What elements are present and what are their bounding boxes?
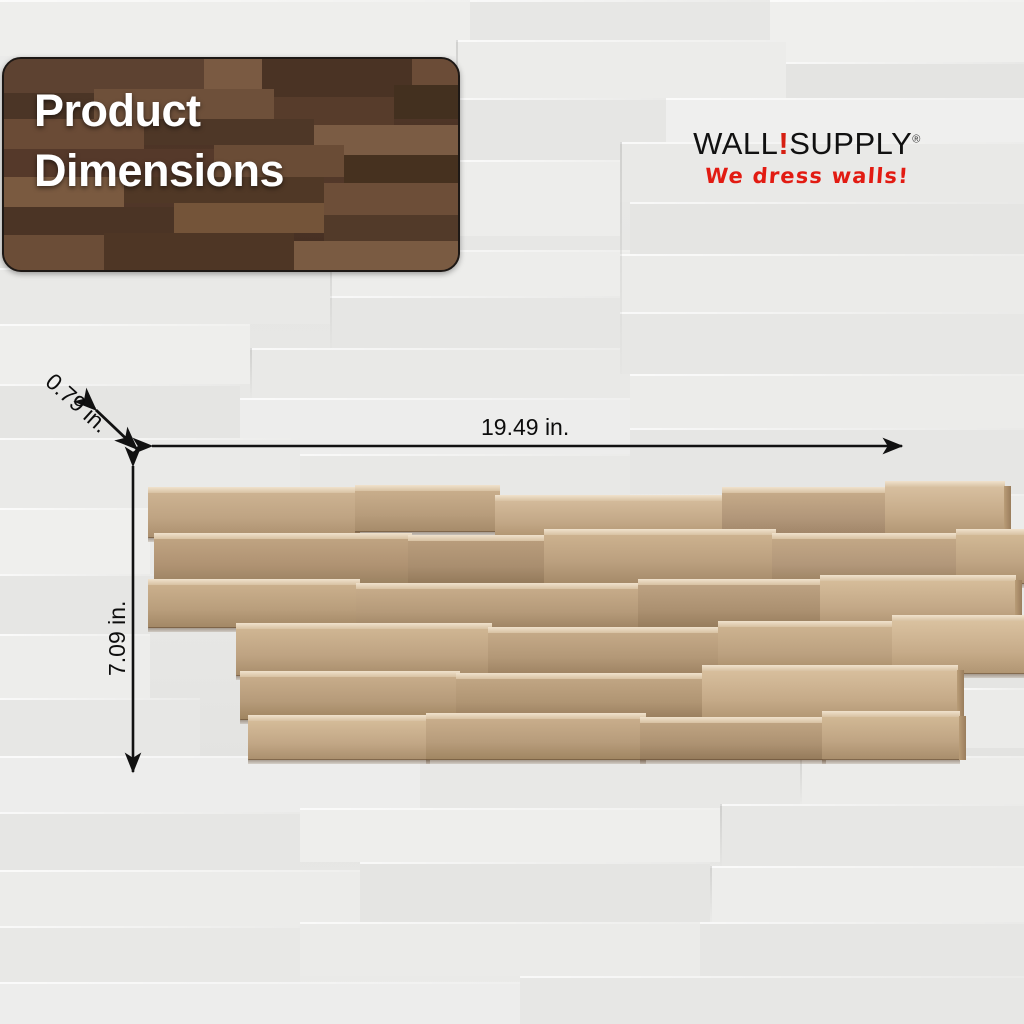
infographic-canvas: Product Dimensions WALL!SUPPLY® We dress… (0, 0, 1024, 1024)
width-dimension-label: 19.49 in. (481, 414, 569, 441)
height-dimension-label: 7.09 in. (104, 601, 131, 676)
dimension-annotations (0, 0, 1024, 1024)
